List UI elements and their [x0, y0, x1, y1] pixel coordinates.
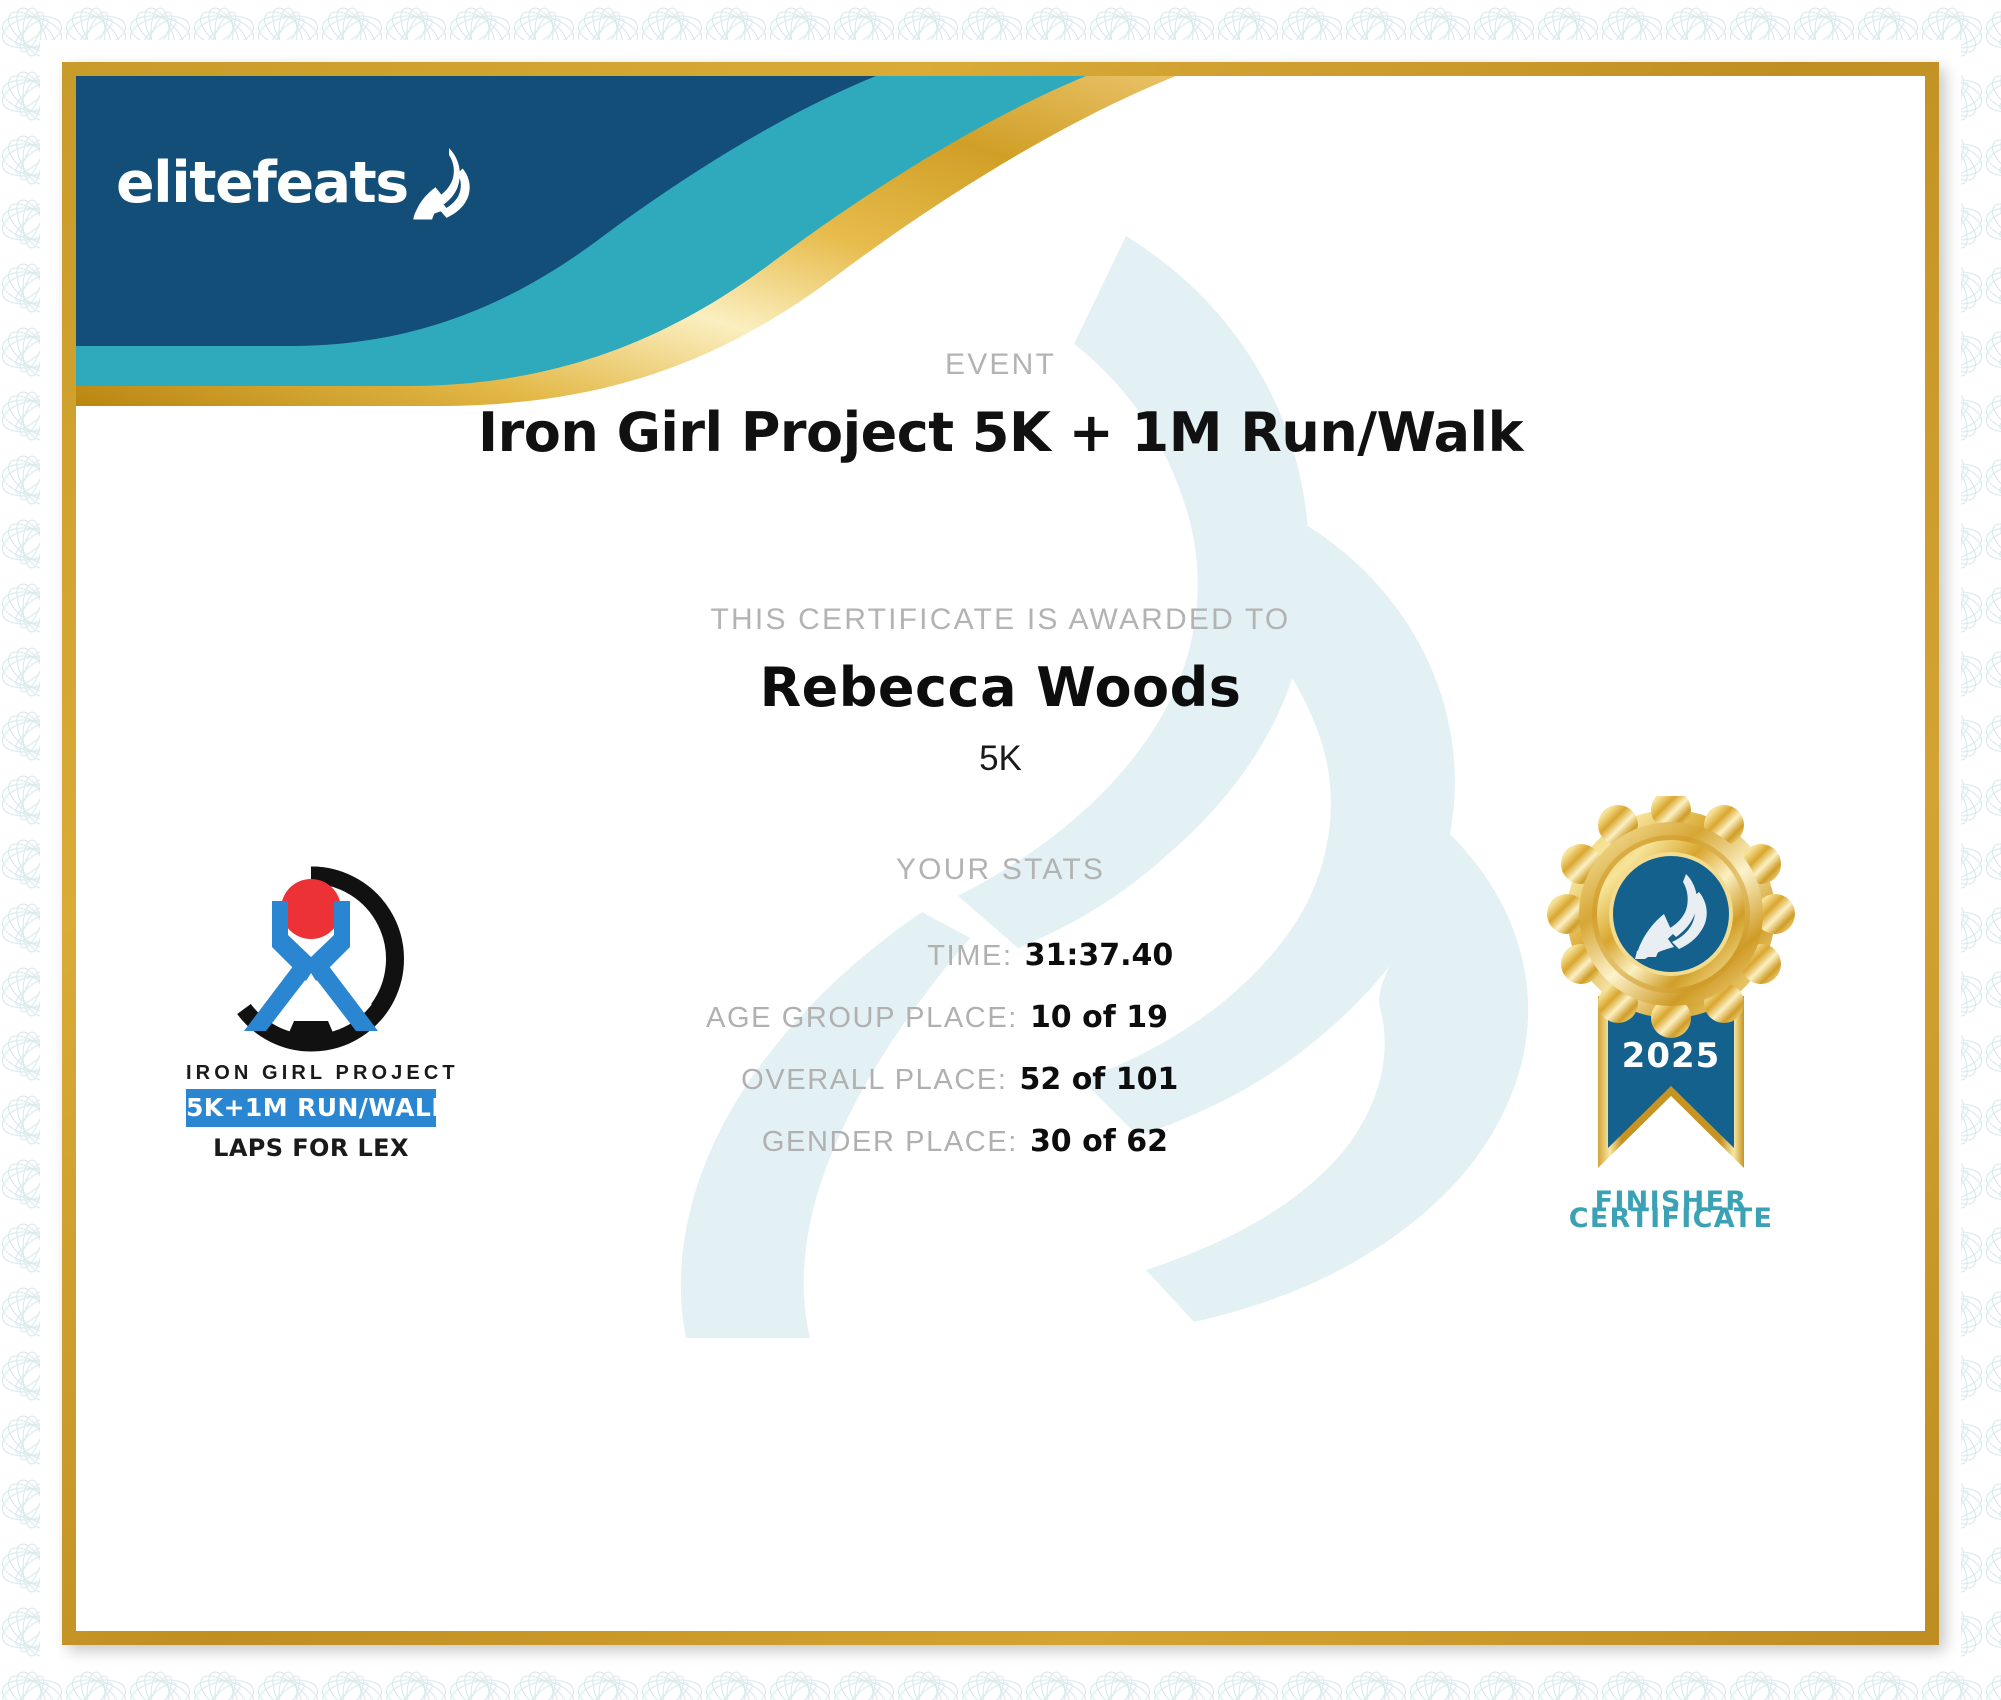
stat-value-time: 31:37.40	[1025, 938, 1174, 973]
event-title: Iron Girl Project 5K + 1M Run/Walk	[76, 401, 1925, 464]
awarded-to-label: THIS CERTIFICATE IS AWARDED TO	[76, 603, 1925, 637]
stat-key-gender-place: GENDER PLACE:	[706, 1126, 1018, 1159]
stats-list: TIME: 31:37.40 AGE GROUP PLACE: 10 of 19…	[376, 938, 1498, 1186]
stat-value-overall-place: 52 of 101	[1020, 1062, 1179, 1097]
finisher-medal-icon: 2025	[1536, 796, 1806, 1196]
stat-key-age-group-place: AGE GROUP PLACE:	[706, 1002, 1018, 1035]
event-label: EVENT	[76, 348, 1925, 382]
event-logo-tagline: LAPS FOR LEX	[186, 1134, 436, 1162]
recipient-name: Rebecca Woods	[76, 656, 1925, 719]
stat-row-time: TIME: 31:37.40	[376, 938, 1498, 1000]
event-logo: IRON GIRL PROJECT 5K+1M RUN/WALK LAPS FO…	[186, 861, 436, 1161]
medal-caption-line2: CERTIFICATE	[1506, 1204, 1836, 1235]
recipient-division: 5K	[76, 739, 1925, 779]
event-logo-name: IRON GIRL PROJECT	[186, 1062, 436, 1085]
stat-row-age-group-place: AGE GROUP PLACE: 10 of 19	[376, 1000, 1498, 1062]
stat-row-gender-place: GENDER PLACE: 30 of 62	[376, 1124, 1498, 1186]
certificate-content: EVENT Iron Girl Project 5K + 1M Run/Walk…	[76, 76, 1925, 1631]
event-logo-distance: 5K+1M RUN/WALK	[186, 1089, 436, 1127]
certificate-paper: elitefeats EVENT Iron Girl Project 5K + …	[0, 0, 2001, 1700]
stat-key-overall-place: OVERALL PLACE:	[696, 1064, 1008, 1097]
stat-key-time: TIME:	[701, 940, 1013, 973]
svg-text:2025: 2025	[1622, 1036, 1721, 1076]
finisher-medal: 2025 FINISHER CERTIFICATE	[1506, 796, 1836, 1296]
stat-row-overall-place: OVERALL PLACE: 52 of 101	[376, 1062, 1498, 1124]
gold-border-frame: elitefeats EVENT Iron Girl Project 5K + …	[62, 62, 1939, 1645]
stat-value-gender-place: 30 of 62	[1030, 1124, 1168, 1159]
iron-girl-project-mark-icon	[206, 861, 416, 1056]
certificate-body: elitefeats EVENT Iron Girl Project 5K + …	[76, 76, 1925, 1631]
stat-value-age-group-place: 10 of 19	[1030, 1000, 1168, 1035]
